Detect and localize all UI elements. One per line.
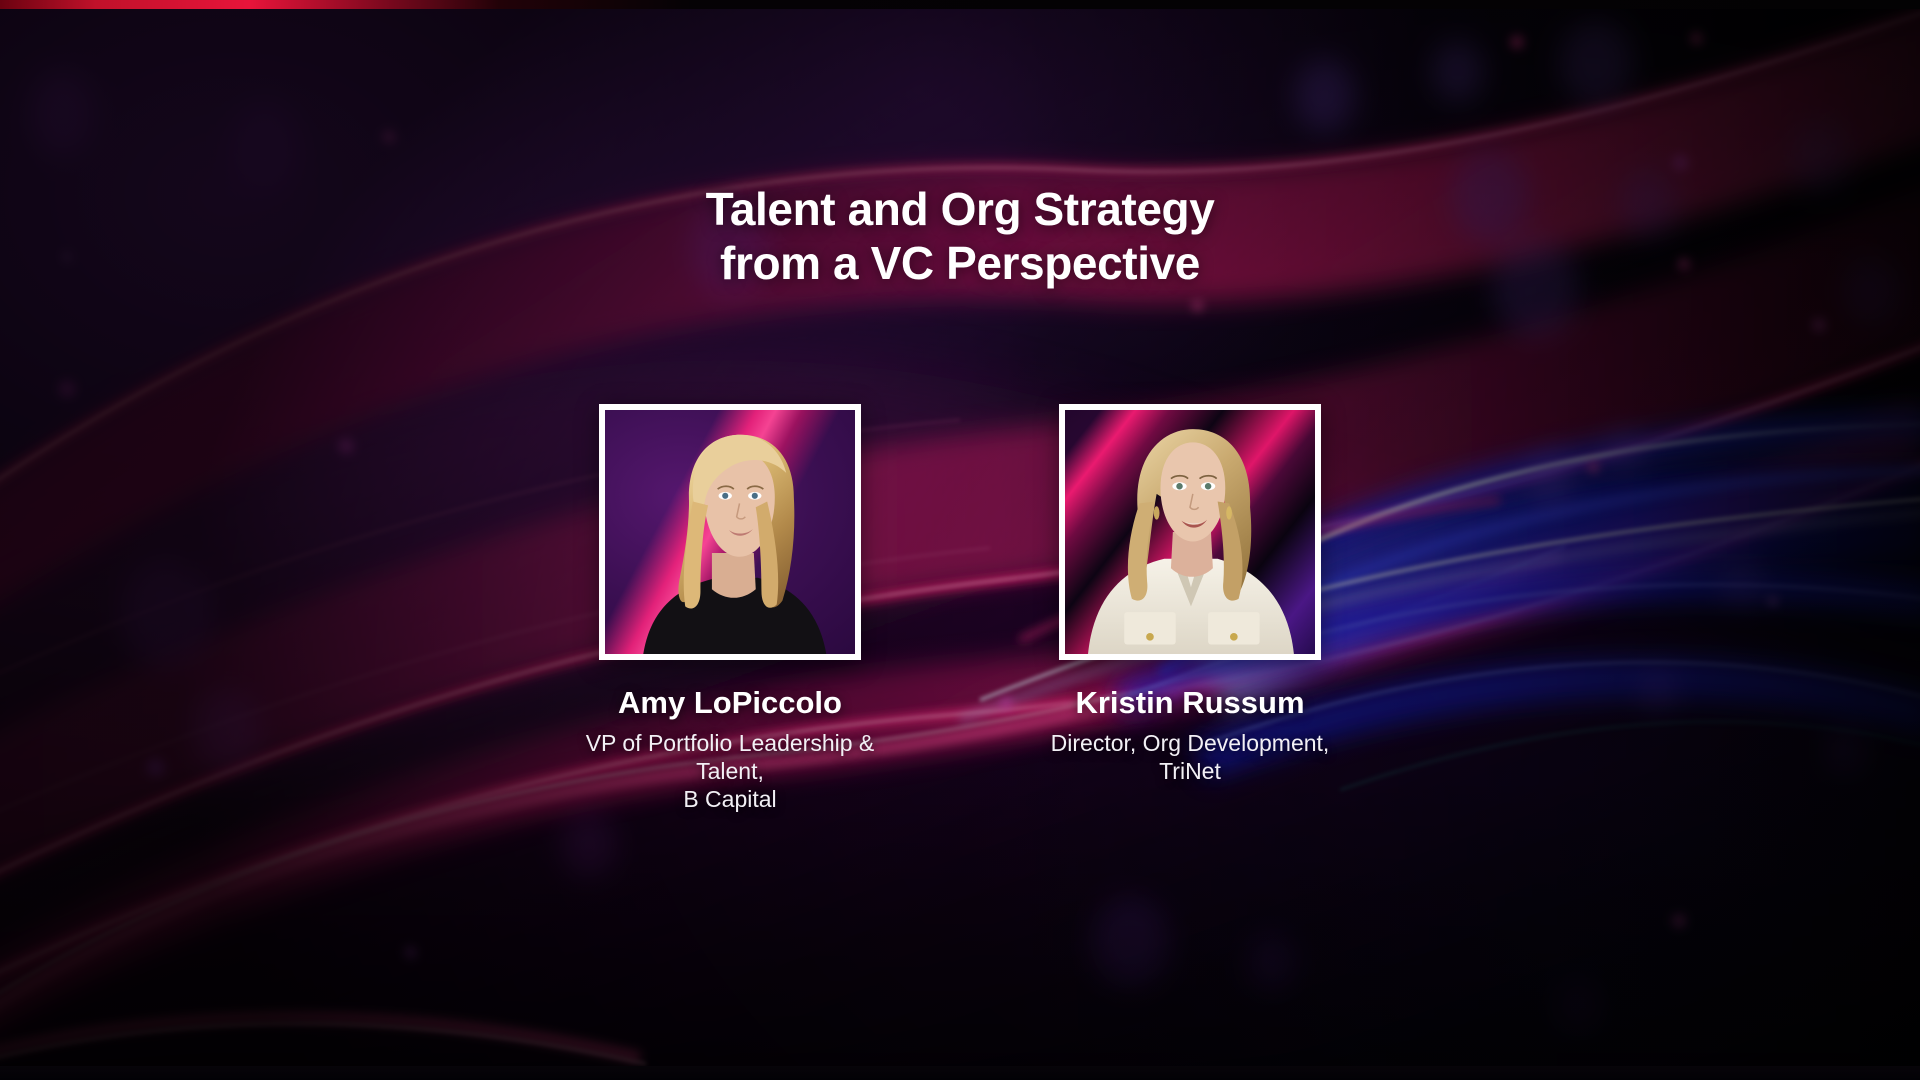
speaker-role-line-2: B Capital	[561, 785, 899, 813]
headshot-kristin-russum	[1065, 410, 1315, 654]
speaker-role: Director, Org Development, TriNet	[1051, 729, 1330, 785]
speaker-photo-frame	[599, 404, 861, 660]
slide-title-line-2: from a VC Perspective	[0, 237, 1920, 291]
speaker-role-line-2: TriNet	[1051, 757, 1330, 785]
presentation-slide: Talent and Org Strategy from a VC Perspe…	[0, 0, 1920, 1080]
speaker-role: VP of Portfolio Leadership & Talent, B C…	[561, 729, 899, 813]
slide-title-line-1: Talent and Org Strategy	[706, 183, 1215, 235]
speaker-photo-frame	[1059, 404, 1321, 660]
slide-content: Talent and Org Strategy from a VC Perspe…	[0, 0, 1920, 1080]
speaker-role-line-1: Director, Org Development,	[1051, 730, 1330, 756]
speaker-list: Amy LoPiccolo VP of Portfolio Leadership…	[0, 404, 1920, 813]
headshot-amy-lopiccolo	[605, 410, 855, 654]
speaker-card: Amy LoPiccolo VP of Portfolio Leadership…	[561, 404, 899, 813]
speaker-name: Kristin Russum	[1075, 684, 1304, 721]
speaker-name: Amy LoPiccolo	[618, 684, 842, 721]
speaker-role-line-1: VP of Portfolio Leadership & Talent,	[586, 730, 875, 784]
slide-title: Talent and Org Strategy from a VC Perspe…	[0, 183, 1920, 291]
speaker-card: Kristin Russum Director, Org Development…	[1021, 404, 1359, 785]
